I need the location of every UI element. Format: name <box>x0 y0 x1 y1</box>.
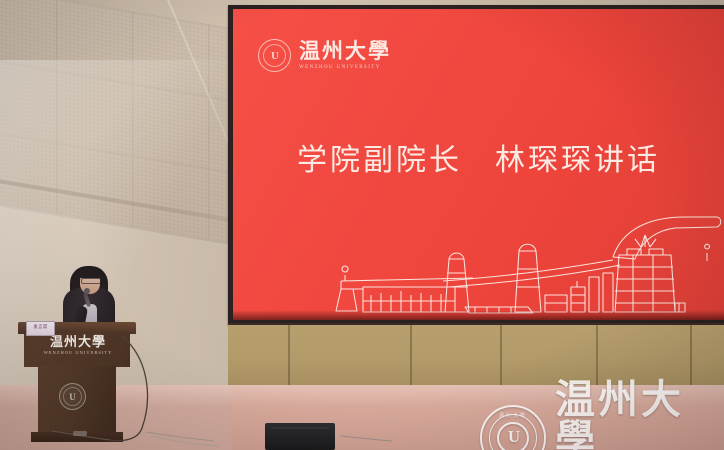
speaker-glasses <box>81 278 101 284</box>
watermark: 温州大學 U 1933 WENZHOU UNIVERSITY 温州大學 WENZ… <box>480 380 724 450</box>
watermark-seal-monogram: U <box>508 428 518 445</box>
slide-logo-text: 温州大學 WENZHOU UNIVERSITY <box>299 41 391 70</box>
microphone-head <box>84 288 90 294</box>
university-seal-icon: U <box>258 39 291 72</box>
seal-monogram: U <box>271 49 278 61</box>
slide-title: 学院副院长 林琛琛讲话 <box>233 135 724 179</box>
watermark-seal-arc-top: 温州大學 <box>482 412 544 419</box>
speaker-hair-front <box>78 267 102 278</box>
floor-connector-box <box>73 431 87 436</box>
watermark-text: 温州大學 WENZHOU UNIVERSITY <box>555 380 724 450</box>
watermark-seal-core: U <box>497 422 529 450</box>
slide-logo-chinese: 温州大學 <box>299 41 391 62</box>
slide-logo-english: WENZHOU UNIVERSITY <box>299 65 391 70</box>
watermark-chinese: 温州大學 <box>555 380 724 450</box>
slide-logo: U 温州大學 WENZHOU UNIVERSITY <box>258 39 391 72</box>
watermark-seal-icon: 温州大學 U 1933 WENZHOU UNIVERSITY <box>480 405 546 450</box>
led-screen: U 温州大學 WENZHOU UNIVERSITY 学院副院长 林琛琛讲话 <box>233 9 724 320</box>
stage-monitor-speaker <box>265 423 335 450</box>
photo-scene: U 温州大學 WENZHOU UNIVERSITY 学院副院长 林琛琛讲话 <box>0 0 724 450</box>
